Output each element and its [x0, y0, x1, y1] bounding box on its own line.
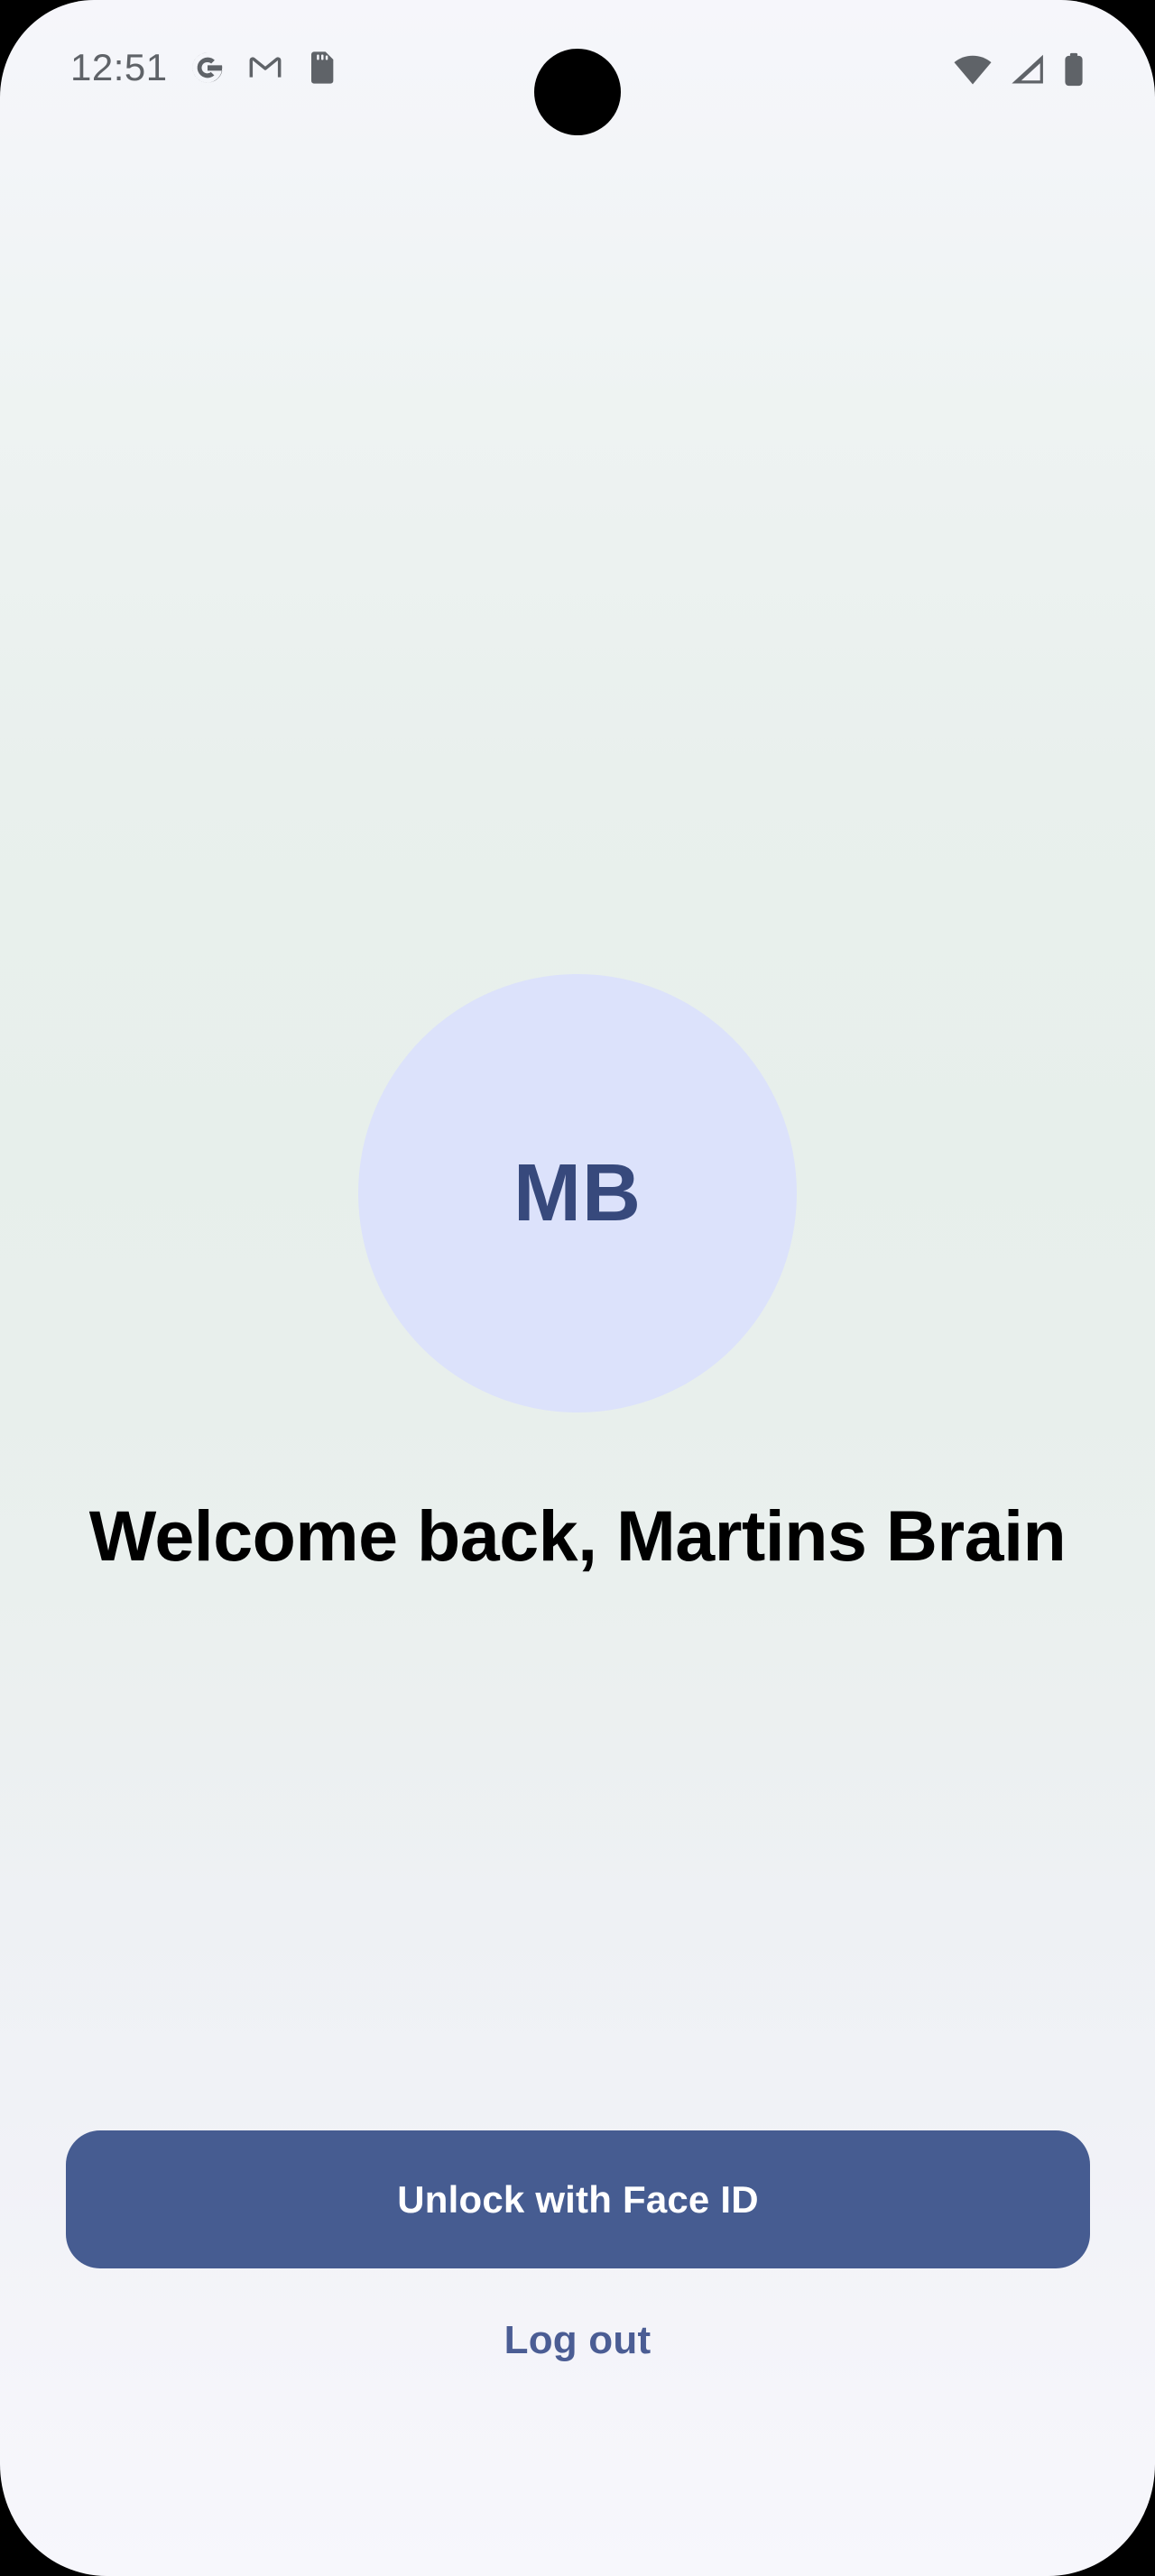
log-out-button[interactable]: Log out	[0, 2318, 1155, 2363]
status-bar-right-group	[953, 51, 1085, 88]
sd-card-icon	[305, 50, 337, 86]
google-icon	[189, 50, 226, 86]
status-bar-clock: 12:51	[70, 47, 168, 88]
gmail-icon	[247, 50, 283, 86]
log-out-button-label: Log out	[504, 2318, 651, 2362]
avatar: MB	[358, 974, 797, 1412]
device-frame: 12:51	[0, 0, 1155, 2576]
welcome-title: Welcome back, Martins Brain	[0, 1493, 1155, 1579]
unlock-button-label: Unlock with Face ID	[397, 2178, 759, 2222]
phone-screen: 12:51	[0, 0, 1155, 2576]
status-bar-left-group: 12:51	[70, 47, 337, 88]
unlock-with-face-id-button[interactable]: Unlock with Face ID	[66, 2130, 1090, 2268]
status-bar: 12:51	[0, 0, 1155, 135]
avatar-initials: MB	[513, 1147, 642, 1240]
battery-icon	[1063, 52, 1085, 87]
cellular-signal-icon	[1010, 53, 1046, 86]
lock-screen-content: MB Welcome back, Martins Brain Unlock wi…	[0, 135, 1155, 2576]
front-camera-punch-hole	[534, 49, 621, 135]
wifi-icon	[953, 53, 993, 86]
